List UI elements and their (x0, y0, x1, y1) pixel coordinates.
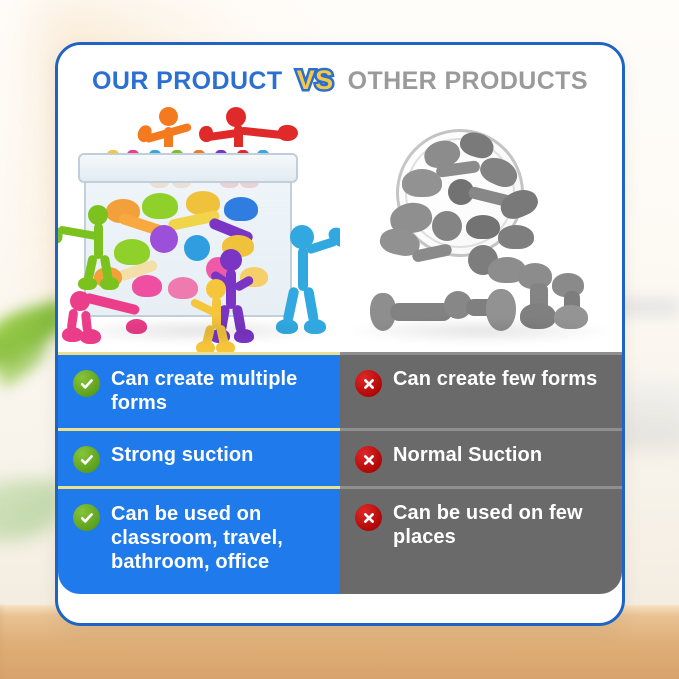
check-icon (73, 446, 100, 473)
con-cell-3[interactable]: Can be used on few places (340, 486, 622, 594)
con-text-1: Can create few forms (393, 368, 597, 392)
other-photo-shadow (348, 318, 613, 344)
con-text-2: Normal Suction (393, 444, 542, 468)
pro-cell-1[interactable]: Can create multiple forms (58, 352, 340, 428)
other-products-photo (340, 107, 622, 352)
check-icon (73, 370, 100, 397)
our-product-title: OUR PRODUCT (92, 67, 283, 96)
cross-icon (355, 370, 382, 397)
comparison-card: OUR PRODUCT VS OTHER PRODUCTS (55, 42, 625, 626)
con-cell-2[interactable]: Normal Suction (340, 428, 622, 486)
comparison-header: OUR PRODUCT VS OTHER PRODUCTS (58, 45, 622, 107)
table-row: Strong suction Normal Suction (58, 428, 622, 486)
table-row: Can be used on classroom, travel, bathro… (58, 486, 622, 594)
storage-box-lid (78, 153, 298, 183)
product-photo-strip (58, 107, 622, 352)
comparison-table: Can create multiple forms Can create few… (58, 352, 622, 594)
our-photo-shadow (66, 318, 331, 344)
check-icon (73, 504, 100, 531)
vs-badge: VS (297, 67, 334, 94)
cross-icon (355, 446, 382, 473)
pro-cell-2[interactable]: Strong suction (58, 428, 340, 486)
con-text-3: Can be used on few places (393, 502, 608, 549)
other-products-title: OTHER PRODUCTS (348, 67, 588, 96)
pro-cell-3[interactable]: Can be used on classroom, travel, bathro… (58, 486, 340, 594)
pro-text-3: Can be used on classroom, travel, bathro… (111, 502, 326, 574)
pro-text-1: Can create multiple forms (111, 368, 326, 415)
table-row: Can create multiple forms Can create few… (58, 352, 622, 428)
pro-text-2: Strong suction (111, 444, 254, 468)
con-cell-1[interactable]: Can create few forms (340, 352, 622, 428)
cross-icon (355, 504, 382, 531)
toy-figure-green (58, 205, 134, 289)
our-product-photo (58, 107, 340, 352)
